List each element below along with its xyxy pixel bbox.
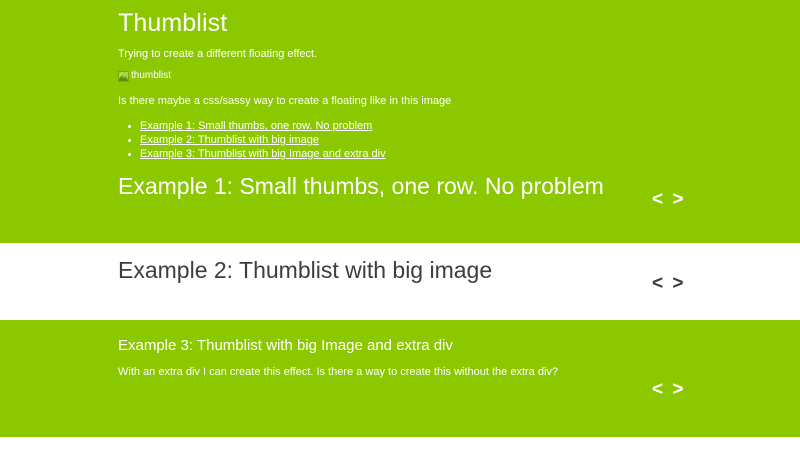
broken-image-icon xyxy=(118,71,129,82)
example-3-body-wrap: With an extra div I can create this effe… xyxy=(118,365,800,380)
list-item: Example 2: Thumblist with big image xyxy=(140,133,800,147)
intro-subtitle: Trying to create a different floating ef… xyxy=(118,47,800,62)
example-1-heading-wrap: Example 1: Small thumbs, one row. No pro… xyxy=(118,172,800,200)
example-2-section: Example 2: Thumblist with big image < > xyxy=(0,243,800,320)
link-example-1[interactable]: Example 1: Small thumbs, one row. No pro… xyxy=(140,120,372,132)
example-3-heading-wrap: Example 3: Thumblist with big Image and … xyxy=(118,336,800,356)
broken-image-wrap: thumblist xyxy=(118,70,800,82)
example-3-section: Example 3: Thumblist with big Image and … xyxy=(0,320,800,437)
example-3-nav-chevrons[interactable]: < > xyxy=(652,380,685,399)
link-example-2[interactable]: Example 2: Thumblist with big image xyxy=(140,134,319,146)
example-1-heading: Example 1: Small thumbs, one row. No pro… xyxy=(118,172,800,200)
list-item: Example 3: Thumblist with big Image and … xyxy=(140,147,800,161)
page-root: Thumblist Trying to create a different f… xyxy=(0,0,800,450)
example-2-heading: Example 2: Thumblist with big image xyxy=(118,256,800,284)
intro-question-wrap: Is there maybe a css/sassy way to create… xyxy=(118,94,800,109)
link-example-3[interactable]: Example 3: Thumblist with big Image and … xyxy=(140,148,386,160)
example-3-heading: Example 3: Thumblist with big Image and … xyxy=(118,336,800,356)
page-title: Thumblist xyxy=(118,8,800,38)
intro-question: Is there maybe a css/sassy way to create… xyxy=(118,94,800,109)
intro-subtitle-wrap: Trying to create a different floating ef… xyxy=(118,47,800,62)
page-title-wrap: Thumblist xyxy=(118,8,800,38)
intro-section: Thumblist Trying to create a different f… xyxy=(0,0,800,243)
example-1-nav-chevrons[interactable]: < > xyxy=(652,190,685,209)
example-2-heading-wrap: Example 2: Thumblist with big image xyxy=(118,256,800,284)
broken-image[interactable]: thumblist xyxy=(118,70,800,82)
example-links-list: Example 1: Small thumbs, one row. No pro… xyxy=(118,119,800,161)
list-item: Example 1: Small thumbs, one row. No pro… xyxy=(140,119,800,133)
example-links-wrap: Example 1: Small thumbs, one row. No pro… xyxy=(118,119,800,161)
example-2-nav-chevrons[interactable]: < > xyxy=(652,274,685,293)
broken-image-alt-text: thumblist xyxy=(131,70,171,82)
example-3-body: With an extra div I can create this effe… xyxy=(118,365,800,380)
